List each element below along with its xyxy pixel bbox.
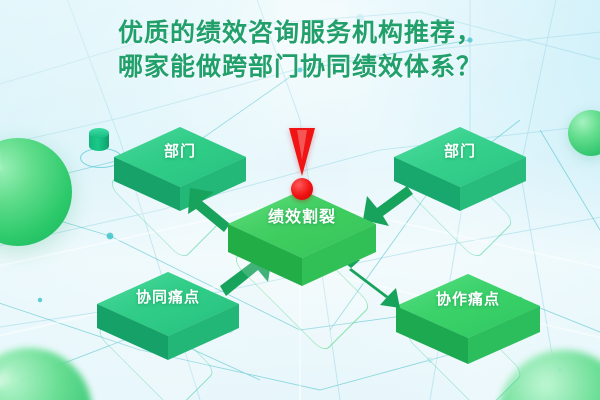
page-title: 优质的绩效咨询服务机构推荐， 哪家能做跨部门协同绩效体系？ <box>0 16 600 84</box>
cylinder-top <box>89 128 109 138</box>
exclamation-bar-highlight <box>297 130 307 160</box>
node-label-center: 绩效割裂 <box>222 203 382 227</box>
title-line-2: 哪家能做跨部门协同绩效体系？ <box>0 50 600 84</box>
node-label-top-right: 部门 <box>390 140 530 161</box>
node-label-bottom-right: 协作痛点 <box>392 288 544 309</box>
infographic-canvas: 优质的绩效咨询服务机构推荐， 哪家能做跨部门协同绩效体系？ 部门 <box>0 0 600 400</box>
cube-shape <box>392 272 544 370</box>
exclamation-dot <box>291 178 313 200</box>
node-label-top-left: 部门 <box>110 140 250 161</box>
title-line-1: 优质的绩效咨询服务机构推荐， <box>0 16 600 50</box>
exclamation-mark-icon <box>282 128 322 202</box>
decor-cylinder-node <box>89 128 109 154</box>
sphere-highlight <box>0 144 18 178</box>
sphere-highlight <box>0 357 30 393</box>
